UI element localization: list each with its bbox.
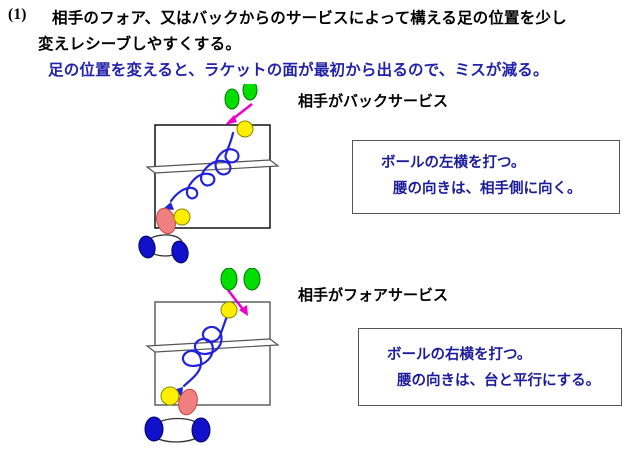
diagram-fore-service xyxy=(130,268,300,455)
heading-line-1: 相手のフォア、又はバックからのサービスによって構える足の位置を少し xyxy=(52,6,567,28)
ball-at-serve xyxy=(237,121,253,137)
callout-box-fore-service: ボールの右横を打つ。 腰の向きは、台と平行にする。 xyxy=(358,328,622,406)
callout-fore-line-2: 腰の向きは、台と平行にする。 xyxy=(397,369,600,390)
receiver-feet-blue xyxy=(137,235,190,265)
opponent-feet-green xyxy=(221,268,260,290)
callout-back-line-2: 腰の向きは、相手側に向く。 xyxy=(393,177,582,198)
diagram-back-service xyxy=(130,84,300,269)
heading-line-3-highlight: 足の位置を変えると、ラケットの面が最初から出るので、ミスが減る。 xyxy=(48,58,549,80)
callout-fore-line-1: ボールの右横を打つ。 xyxy=(387,343,531,364)
heading-number: (1) xyxy=(8,6,27,24)
heading-line-2: 変えレシーブしやすくする。 xyxy=(38,32,241,54)
callout-back-line-1: ボールの左横を打つ。 xyxy=(381,151,525,172)
caption-back-service: 相手がバックサービス xyxy=(298,90,448,111)
caption-fore-service: 相手がフォアサービス xyxy=(298,284,448,305)
receiver-feet-blue xyxy=(145,417,210,442)
ball-at-receive xyxy=(161,387,179,405)
callout-box-back-service: ボールの左横を打つ。 腰の向きは、相手側に向く。 xyxy=(352,140,620,214)
ball-at-receive xyxy=(174,209,190,225)
ball-at-serve xyxy=(221,302,237,318)
ball-trajectory-path xyxy=(173,313,228,397)
